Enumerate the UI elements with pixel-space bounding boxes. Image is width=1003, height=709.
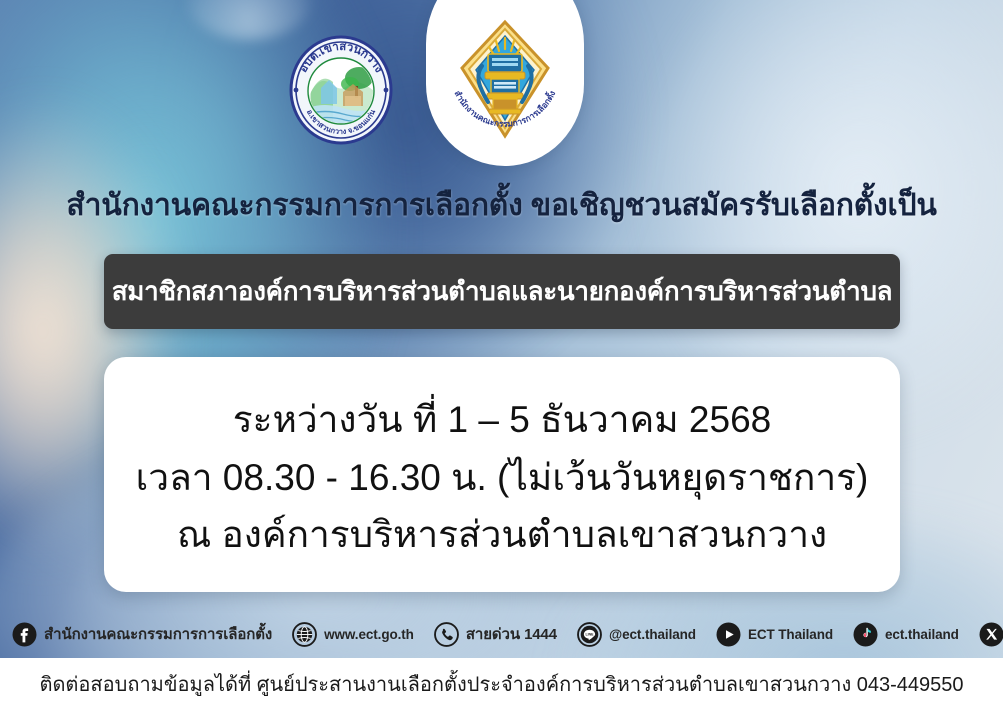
position-banner: สมาชิกสภาองค์การบริหารส่วนตำบลและนายกองค… — [104, 254, 900, 329]
social-label-hotline: สายด่วน 1444 — [466, 622, 557, 646]
poster-artwork: อบต.เขาสวนกวาง อ.เขาสวนกวาง จ.ขอนแก่น — [0, 0, 1003, 658]
social-item-hotline[interactable]: สายด่วน 1444 — [434, 622, 557, 647]
globe-icon — [292, 622, 317, 647]
phone-icon — [434, 622, 459, 647]
svg-text:LINE: LINE — [586, 632, 595, 636]
social-label-website: www.ect.go.th — [324, 627, 414, 642]
social-item-x-twitter[interactable]: @EctThailand — [979, 622, 1003, 647]
social-item-website[interactable]: www.ect.go.th — [292, 622, 414, 647]
local-government-seal-icon: อบต.เขาสวนกวาง อ.เขาสวนกวาง จ.ขอนแก่น — [285, 34, 397, 146]
ect-emblem-icon: สำนักงานคณะกรรมการการเลือกตั้ง — [444, 16, 566, 154]
social-label-facebook: สำนักงานคณะกรรมการการเลือกตั้ง — [44, 622, 272, 646]
details-line-place: ณ องค์การบริหารส่วนตำบลเขาสวนกวาง — [177, 508, 827, 562]
line-icon: LINE — [577, 622, 602, 647]
position-banner-text: สมาชิกสภาองค์การบริหารส่วนตำบลและนายกองค… — [112, 271, 893, 312]
details-line-time: เวลา 08.30 - 16.30 น. (ไม่เว้นวันหยุดราช… — [136, 451, 869, 505]
poster-headline: สำนักงานคณะกรรมการการเลือกตั้ง ขอเชิญชวน… — [0, 182, 1003, 229]
tiktok-icon — [853, 622, 878, 647]
social-label-line: @ect.thailand — [609, 627, 696, 642]
social-item-line[interactable]: LINE @ect.thailand — [577, 622, 696, 647]
social-media-bar: สำนักงานคณะกรรมการการเลือกตั้ง www.ect.g… — [0, 612, 1003, 656]
poster-page: อบต.เขาสวนกวาง อ.เขาสวนกวาง จ.ขอนแก่น — [0, 0, 1003, 709]
social-item-youtube[interactable]: ECT Thailand — [716, 622, 833, 647]
social-item-tiktok[interactable]: ect.thailand — [853, 622, 959, 647]
social-label-youtube: ECT Thailand — [748, 627, 833, 642]
youtube-icon — [716, 622, 741, 647]
logo-row: อบต.เขาสวนกวาง อ.เขาสวนกวาง จ.ขอนแก่น — [0, 0, 1003, 175]
details-line-date: ระหว่างวัน ที่ 1 – 5 ธันวาคม 2568 — [233, 393, 772, 447]
details-card: ระหว่างวัน ที่ 1 – 5 ธันวาคม 2568 เวลา 0… — [104, 357, 900, 592]
facebook-icon — [12, 622, 37, 647]
social-item-facebook[interactable]: สำนักงานคณะกรรมการการเลือกตั้ง — [12, 622, 272, 647]
contact-caption: ติดต่อสอบถามข้อมูลได้ที่ ศูนย์ประสานงานเ… — [0, 658, 1003, 709]
social-label-tiktok: ect.thailand — [885, 627, 959, 642]
x-twitter-icon — [979, 622, 1003, 647]
